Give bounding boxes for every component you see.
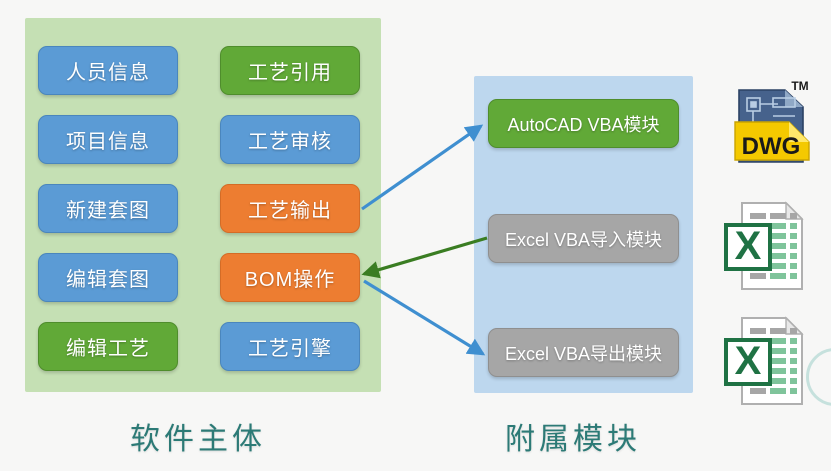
diagram-canvas: 人员信息 项目信息 新建套图 编辑套图 编辑工艺 工艺引用 工艺审核 工艺输出 …	[0, 0, 831, 471]
excel-x-glyph: X	[735, 339, 762, 383]
button-edit-drawing-set[interactable]: 编辑套图	[38, 253, 178, 302]
caption-main-software: 软件主体	[130, 414, 266, 458]
button-excel-vba-export-module[interactable]: Excel VBA导出模块	[488, 328, 679, 377]
button-autocad-vba-module[interactable]: AutoCAD VBA模块	[488, 99, 679, 148]
button-bom-operation[interactable]: BOM操作	[220, 253, 360, 302]
button-project-info[interactable]: 项目信息	[38, 115, 178, 164]
excel-file-icon: X	[724, 199, 808, 295]
dwg-file-icon: DWG TM	[733, 76, 811, 172]
connector-excel-import-to-bom	[364, 238, 487, 274]
dwg-label: DWG	[742, 133, 801, 160]
button-excel-vba-import-module[interactable]: Excel VBA导入模块	[488, 214, 679, 263]
connector-bom-to-excel-export	[364, 281, 483, 354]
button-process-reference[interactable]: 工艺引用	[220, 46, 360, 95]
button-process-engine[interactable]: 工艺引擎	[220, 322, 360, 371]
excel-x-glyph: X	[735, 224, 762, 268]
button-process-output[interactable]: 工艺输出	[220, 184, 360, 233]
caption-auxiliary-modules: 附属模块	[505, 414, 641, 458]
excel-file-icon: X	[724, 314, 808, 410]
trademark-badge: TM	[791, 79, 808, 93]
button-edit-process[interactable]: 编辑工艺	[38, 322, 178, 371]
button-personnel-info[interactable]: 人员信息	[38, 46, 178, 95]
button-new-drawing-set[interactable]: 新建套图	[38, 184, 178, 233]
decorative-circle	[806, 348, 831, 406]
button-process-review[interactable]: 工艺审核	[220, 115, 360, 164]
